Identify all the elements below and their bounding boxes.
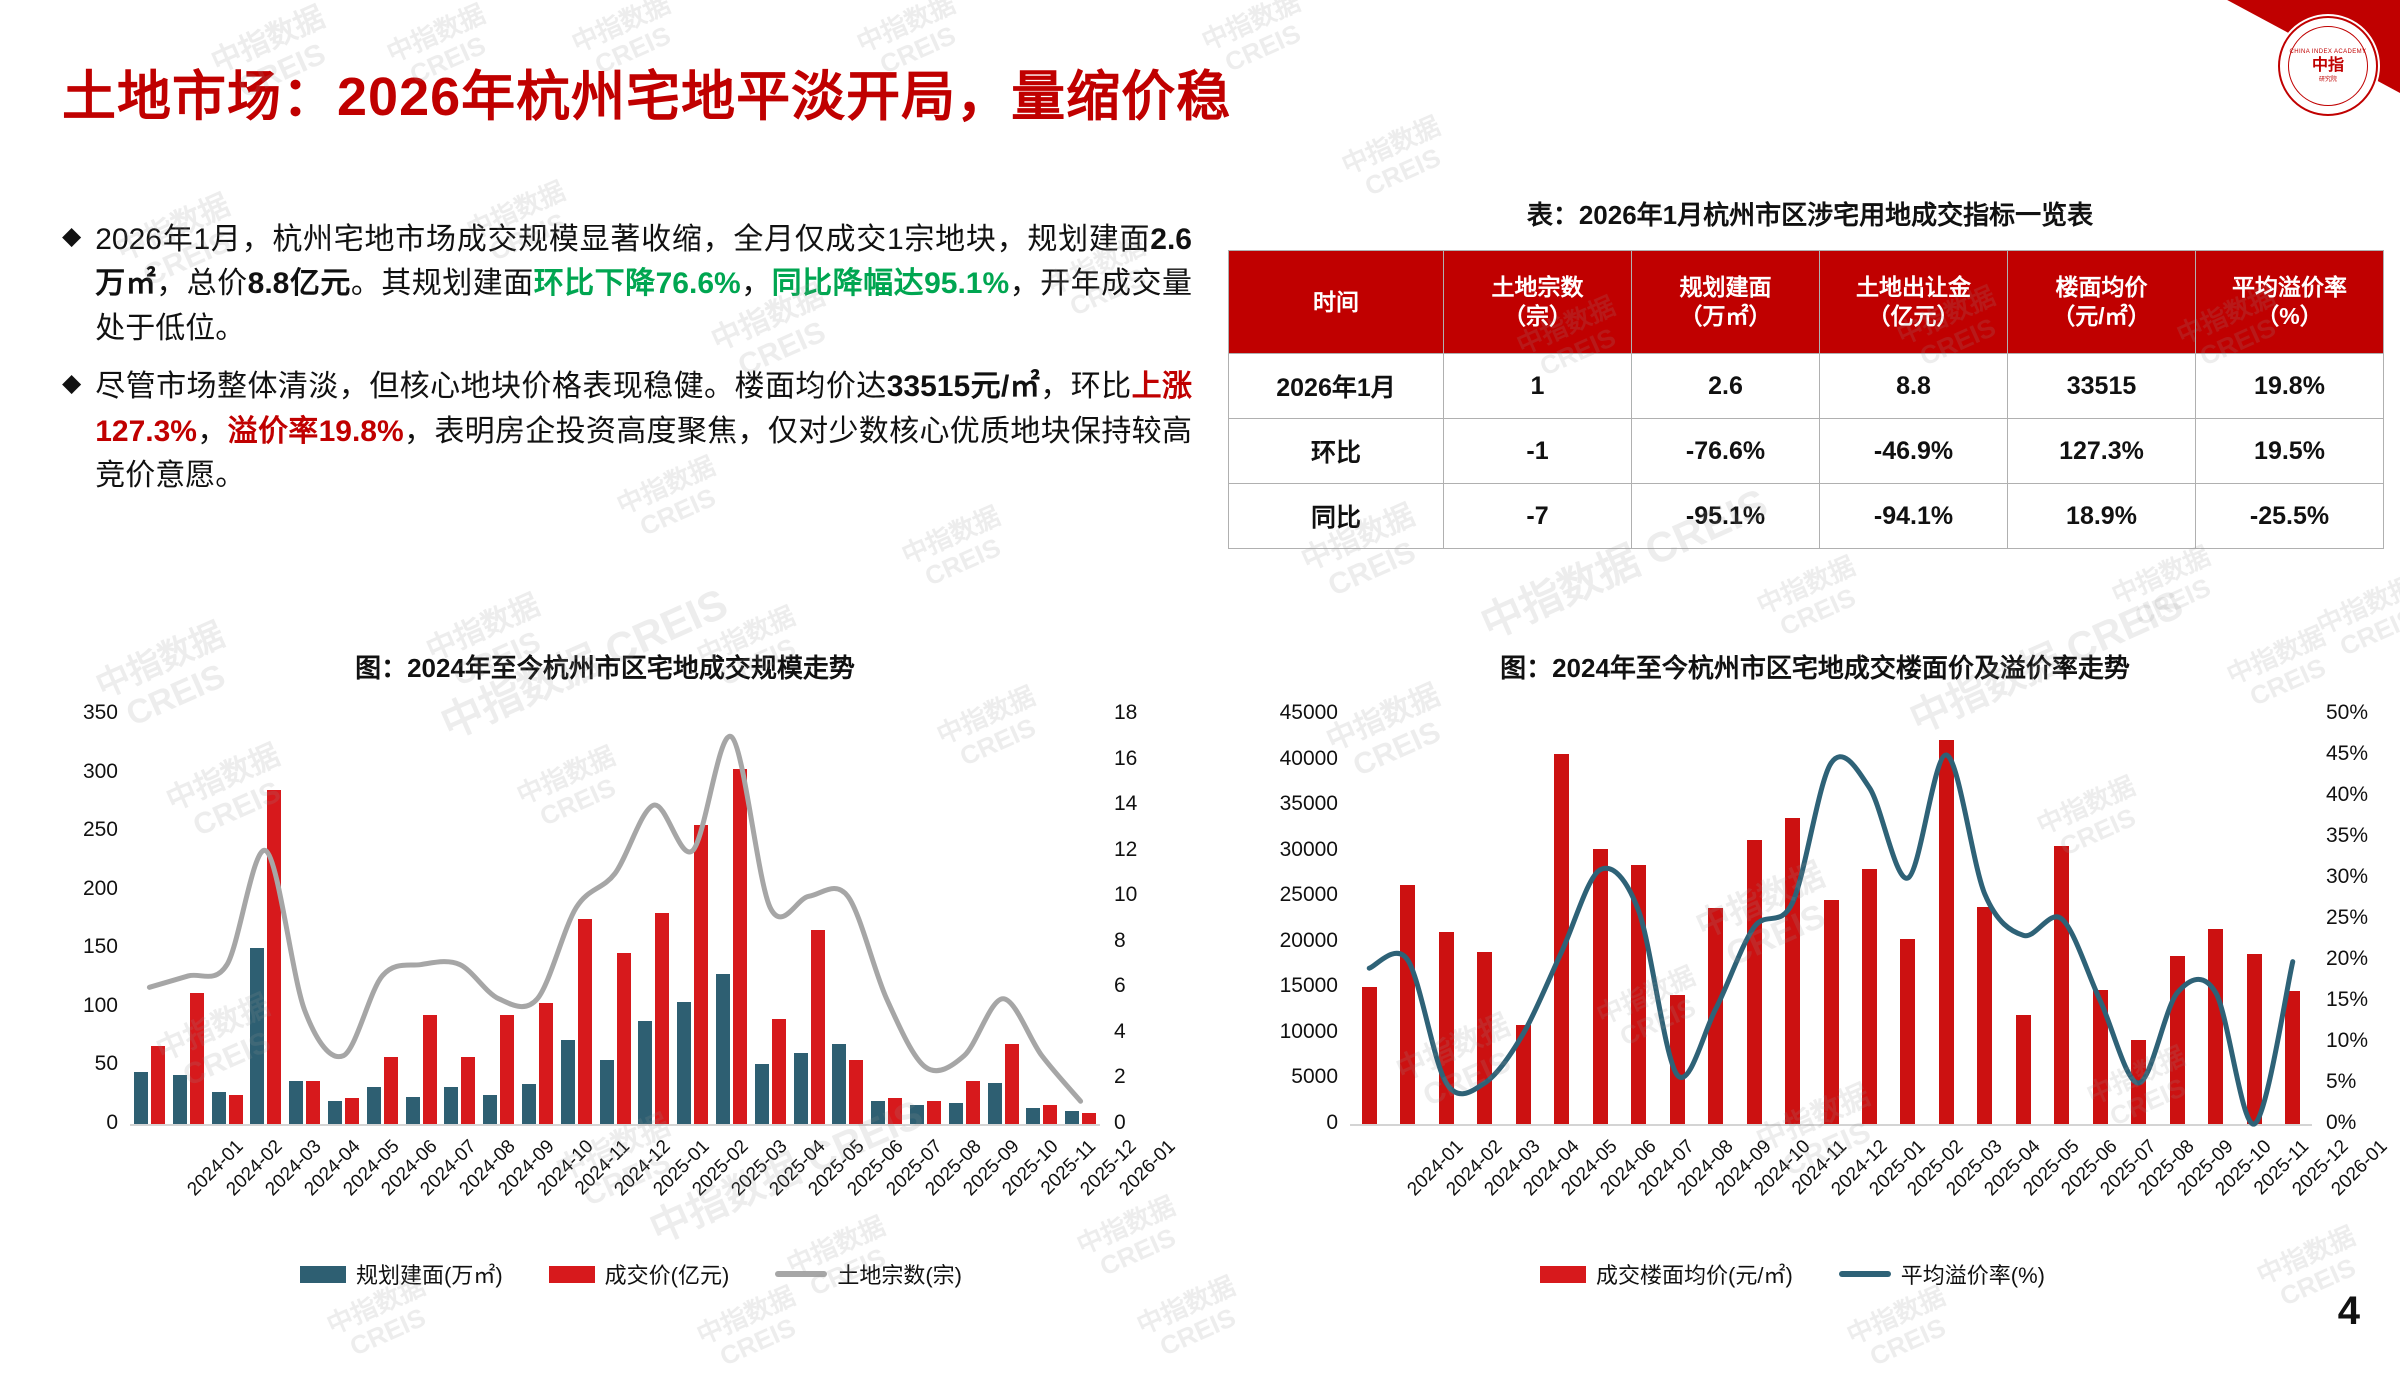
table-header-cell: 土地出让金 （亿元） bbox=[1820, 251, 2008, 354]
summary-bullets: ◆ 2026年1月，杭州宅地市场成交规模显著收缩，全月仅成交1宗地块，规划建面2… bbox=[62, 218, 1192, 512]
indicator-table: 时间 土地宗数 （宗） 规划建面 （万㎡） 土地出让金 （亿元） 楼面均价 （元… bbox=[1228, 250, 2384, 549]
table-header-cell: 时间 bbox=[1229, 251, 1444, 354]
chart-title-scale: 图：2024年至今杭州市区宅地成交规模走势 bbox=[40, 648, 1170, 685]
bullet-segment: ，环比 bbox=[1040, 370, 1131, 403]
legend-swatch-parcel-count-icon bbox=[775, 1271, 827, 1277]
legend-item: 成交楼面均价(元/㎡) bbox=[1540, 1258, 1793, 1290]
bullet-text: 尽管市场整体清淡，但核心地块价格表现稳健。楼面均价达33515元/㎡，环比上涨1… bbox=[95, 365, 1192, 498]
brand-logo: CHINA INDEX ACADEMY 中指 研究院 bbox=[2278, 16, 2378, 116]
bullet-segment: 环比下降76.6% bbox=[534, 267, 741, 300]
legend-swatch-premium-rate-icon bbox=[1839, 1271, 1891, 1277]
header-line2: （亿元） bbox=[1868, 303, 1960, 329]
bullet-segment: ， bbox=[741, 267, 772, 300]
chart-line-layer bbox=[1240, 700, 2390, 1140]
table-row: 同比 -7 -95.1% -94.1% 18.9% -25.5% bbox=[1229, 484, 2384, 549]
row-label: 2026年1月 bbox=[1229, 354, 1444, 419]
legend-label: 平均溢价率(%) bbox=[1901, 1258, 2045, 1290]
row-label: 同比 bbox=[1229, 484, 1444, 549]
table-cell: 19.8% bbox=[2196, 354, 2384, 419]
chart-legend-price: 成交楼面均价(元/㎡) 平均溢价率(%) bbox=[1540, 1258, 2045, 1290]
logo-center-text: 中指 bbox=[2312, 58, 2344, 74]
table-cell: -76.6% bbox=[1632, 419, 1820, 484]
bullet-marker: ◆ bbox=[62, 365, 81, 498]
legend-swatch-deal-price-icon bbox=[549, 1266, 595, 1283]
watermark: 中指数据CREIS bbox=[1843, 1281, 1962, 1376]
table-header-cell: 土地宗数 （宗） bbox=[1444, 251, 1632, 354]
watermark: 中指数据CREIS bbox=[898, 501, 1017, 596]
watermark: 中指数据CREIS bbox=[1133, 1271, 1252, 1366]
bullet-segment: 尽管市场整体清淡，但核心地块价格表现稳健。楼面均价达 bbox=[95, 370, 886, 403]
legend-item: 成交价(亿元) bbox=[549, 1258, 730, 1290]
chart-line bbox=[1369, 755, 2293, 1124]
page-title: 土地市场：2026年杭州宅地平淡开局，量缩价稳 bbox=[62, 52, 1231, 131]
table-cell: 18.9% bbox=[2008, 484, 2196, 549]
table-body: 2026年1月 1 2.6 8.8 33515 19.8% 环比 -1 -76.… bbox=[1229, 354, 2384, 549]
bullet-item: ◆ 2026年1月，杭州宅地市场成交规模显著收缩，全月仅成交1宗地块，规划建面2… bbox=[62, 218, 1192, 351]
watermark: 中指数据CREIS bbox=[1338, 111, 1457, 206]
table-cell: 2.6 bbox=[1632, 354, 1820, 419]
table-row: 环比 -1 -76.6% -46.9% 127.3% 19.5% bbox=[1229, 419, 2384, 484]
table-cell: 127.3% bbox=[2008, 419, 2196, 484]
table-header-cell: 楼面均价 （元/㎡） bbox=[2008, 251, 2196, 354]
table-cell: 8.8 bbox=[1820, 354, 2008, 419]
legend-label: 土地宗数(宗) bbox=[837, 1258, 962, 1290]
bullet-segment: 33515元/㎡ bbox=[887, 370, 1041, 403]
table-header-cell: 规划建面 （万㎡） bbox=[1632, 251, 1820, 354]
legend-item: 土地宗数(宗) bbox=[775, 1258, 962, 1290]
page-number: 4 bbox=[2338, 1289, 2360, 1334]
legend-item: 规划建面(万㎡) bbox=[300, 1258, 503, 1290]
logo-sub-text: 研究院 bbox=[2319, 77, 2337, 83]
bullet-segment: ，总价 bbox=[156, 267, 247, 300]
bullet-item: ◆ 尽管市场整体清淡，但核心地块价格表现稳健。楼面均价达33515元/㎡，环比上… bbox=[62, 365, 1192, 498]
header-line1: 平均溢价率 bbox=[2232, 274, 2347, 300]
watermark: 中指数据CREIS bbox=[2108, 541, 2227, 636]
table-cell: 1 bbox=[1444, 354, 1632, 419]
bullet-marker: ◆ bbox=[62, 218, 81, 351]
bullet-segment: 。其规划建面 bbox=[351, 267, 534, 300]
bullet-segment: 2026年1月，杭州宅地市场成交规模显著收缩，全月仅成交1宗地块，规划建面 bbox=[95, 223, 1150, 256]
header-line2: （宗） bbox=[1503, 303, 1572, 329]
table-cell: -25.5% bbox=[2196, 484, 2384, 549]
table-row: 2026年1月 1 2.6 8.8 33515 19.8% bbox=[1229, 354, 2384, 419]
chart-price: 0500010000150002000025000300003500040000… bbox=[1240, 700, 2390, 1140]
header-line1: 规划建面 bbox=[1680, 274, 1772, 300]
legend-label: 成交楼面均价(元/㎡) bbox=[1596, 1258, 1793, 1290]
bullet-text: 2026年1月，杭州宅地市场成交规模显著收缩，全月仅成交1宗地块，规划建面2.6… bbox=[95, 218, 1192, 351]
table-cell: -95.1% bbox=[1632, 484, 1820, 549]
bullet-segment: 8.8亿元 bbox=[248, 267, 351, 300]
chart-scale: 0501001502002503003500246810121416182024… bbox=[40, 700, 1170, 1140]
table-cell: 33515 bbox=[2008, 354, 2196, 419]
table-cell: -1 bbox=[1444, 419, 1632, 484]
table-title: 表：2026年1月杭州市区涉宅用地成交指标一览表 bbox=[1230, 195, 2390, 232]
table-cell: -7 bbox=[1444, 484, 1632, 549]
watermark: 中指数据CREIS bbox=[1753, 551, 1872, 646]
chart-title-price: 图：2024年至今杭州市区宅地成交楼面价及溢价率走势 bbox=[1240, 648, 2390, 685]
watermark: 中指数据CREIS bbox=[1073, 1191, 1192, 1286]
legend-swatch-floor-price-icon bbox=[1540, 1266, 1586, 1283]
legend-item: 平均溢价率(%) bbox=[1839, 1258, 2045, 1290]
chart-legend-scale: 规划建面(万㎡) 成交价(亿元) 土地宗数(宗) bbox=[300, 1258, 962, 1290]
legend-label: 成交价(亿元) bbox=[605, 1258, 730, 1290]
legend-swatch-planned-area-icon bbox=[300, 1266, 346, 1283]
header-line1: 土地宗数 bbox=[1492, 274, 1584, 300]
header-line1: 时间 bbox=[1313, 289, 1359, 315]
header-line2: （%） bbox=[2256, 303, 2322, 329]
row-label: 环比 bbox=[1229, 419, 1444, 484]
bullet-segment: ， bbox=[197, 415, 228, 448]
watermark: 中指数据CREIS bbox=[693, 1281, 812, 1376]
table-header-cell: 平均溢价率 （%） bbox=[2196, 251, 2384, 354]
chart-line-layer bbox=[40, 700, 1170, 1140]
table-header-row: 时间 土地宗数 （宗） 规划建面 （万㎡） 土地出让金 （亿元） 楼面均价 （元… bbox=[1229, 251, 2384, 354]
header-line2: （万㎡） bbox=[1680, 303, 1772, 329]
table-cell: 19.5% bbox=[2196, 419, 2384, 484]
table-cell: -94.1% bbox=[1820, 484, 2008, 549]
table-cell: -46.9% bbox=[1820, 419, 2008, 484]
logo-ring-text: CHINA INDEX ACADEMY bbox=[2290, 49, 2367, 55]
bullet-segment: 溢价率19.8% bbox=[228, 415, 404, 448]
header-line2: （元/㎡） bbox=[2052, 303, 2150, 329]
bullet-segment: 同比降幅达95.1% bbox=[772, 267, 1009, 300]
chart-line bbox=[149, 736, 1080, 1101]
legend-label: 规划建面(万㎡) bbox=[356, 1258, 503, 1290]
header-line1: 土地出让金 bbox=[1856, 274, 1971, 300]
header-line1: 楼面均价 bbox=[2056, 274, 2148, 300]
